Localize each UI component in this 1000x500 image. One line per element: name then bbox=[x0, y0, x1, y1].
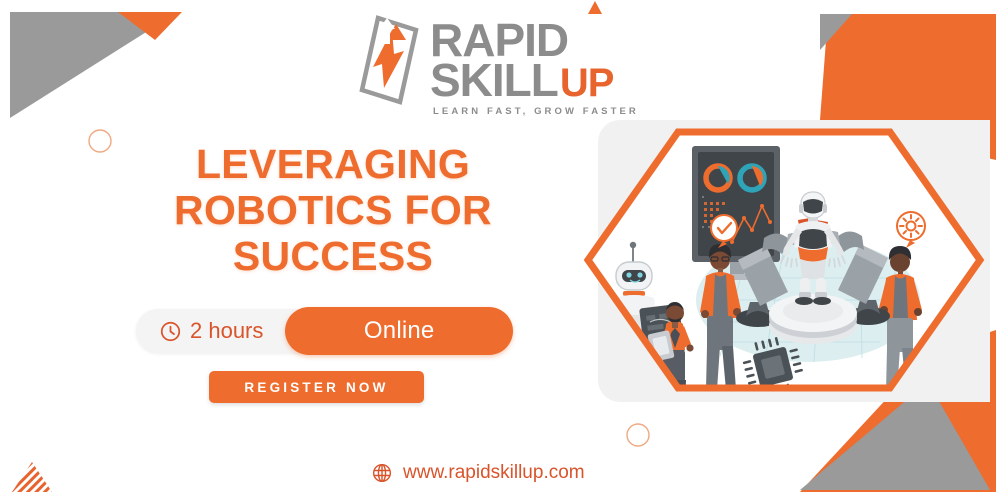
headline-line-2: ROBOTICS FOR bbox=[118, 188, 548, 234]
logo-up-arrow-icon bbox=[378, 16, 396, 46]
globe-icon bbox=[372, 463, 392, 483]
brand-logo: RAPID SKILL UP LEARN FAST, GROW FASTER bbox=[358, 14, 639, 116]
bottom-left-striped-triangle bbox=[12, 462, 52, 492]
robot-podium bbox=[769, 294, 857, 344]
session-info-pill: 2 hours Online bbox=[136, 309, 511, 353]
website-link[interactable]: www.rapidskillup.com bbox=[372, 462, 585, 484]
logo-i-dot-arrow-icon bbox=[587, 0, 603, 16]
mode-badge: Online bbox=[285, 307, 513, 355]
page-title: LEVERAGING ROBOTICS FOR SUCCESS bbox=[118, 142, 548, 280]
duration-segment: 2 hours bbox=[136, 309, 285, 353]
logo-wordmark: RAPID SKILL UP LEARN FAST, GROW FASTER bbox=[430, 14, 639, 116]
clock-icon bbox=[160, 321, 181, 342]
logo-up-text: UP bbox=[560, 66, 614, 101]
circle-outline-left bbox=[89, 130, 111, 152]
logo-skill-text: SKILL bbox=[430, 60, 558, 100]
logo-rapid-text: RAPID bbox=[430, 20, 568, 60]
duration-label: 2 hours bbox=[190, 318, 263, 344]
circle-outline-center bbox=[627, 424, 649, 446]
headline-line-1: LEVERAGING bbox=[118, 142, 548, 188]
promo-banner: RAPID SKILL UP LEARN FAST, GROW FASTER L… bbox=[0, 0, 1000, 500]
robotics-lab-illustration bbox=[560, 110, 990, 410]
register-now-button[interactable]: REGISTER NOW bbox=[209, 371, 424, 403]
headline-line-3: SUCCESS bbox=[118, 234, 548, 280]
website-url: www.rapidskillup.com bbox=[403, 462, 585, 484]
